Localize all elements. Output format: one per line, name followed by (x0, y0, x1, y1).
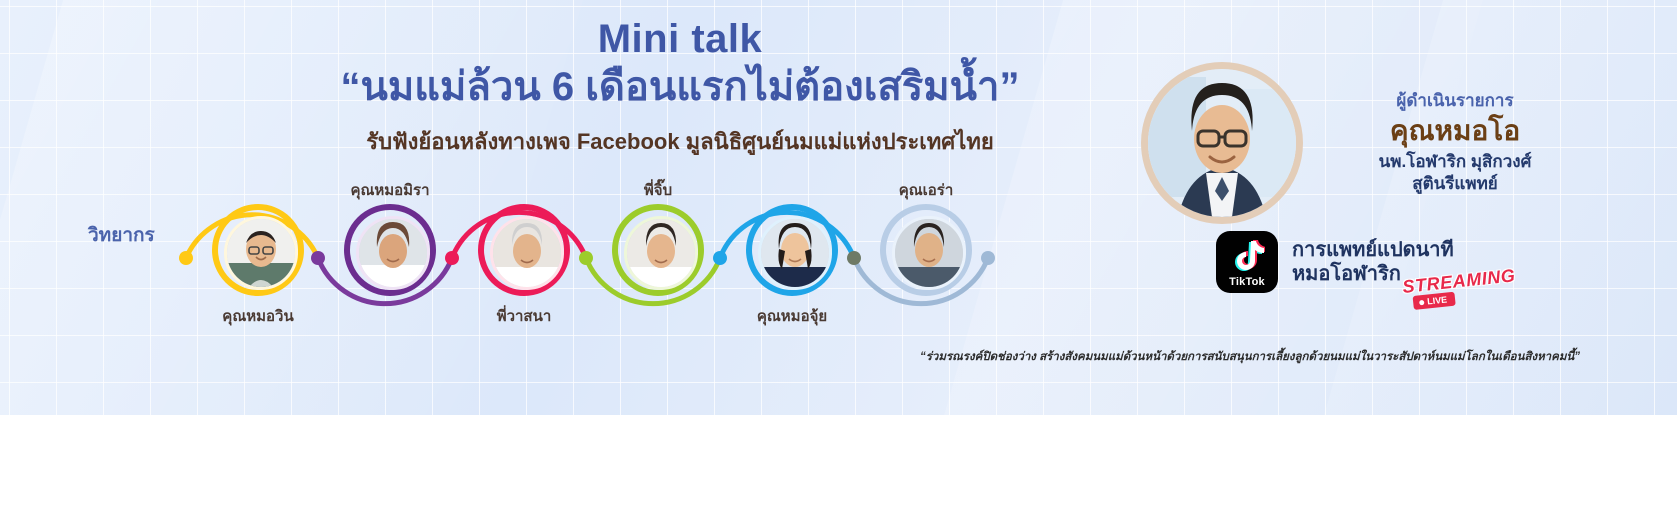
avatar-illustration (493, 219, 561, 287)
avatar-illustration (761, 219, 829, 287)
speaker-avatar (624, 216, 698, 290)
live-badge: LIVE (1413, 292, 1456, 310)
subtitle-replay-info: รับฟังย้อนหลังทางเพจ Facebook มูลนิธิศูน… (180, 124, 1180, 159)
live-label: LIVE (1427, 294, 1448, 306)
tiktok-note-glyph (1231, 240, 1265, 272)
tiktok-wordmark: TikTok (1216, 276, 1278, 288)
avatar-illustration (895, 219, 963, 287)
host-specialty: สูตินรีแพทย์ (1290, 173, 1620, 195)
avatar-illustration (627, 219, 695, 287)
speaker-name: พี่จิ๊บ (582, 178, 734, 202)
channel-line-1: การแพทย์แปดนาที (1292, 238, 1454, 262)
host-portrait-illustration (1148, 69, 1296, 217)
title-english: Mini talk (180, 18, 1180, 60)
speaker-name: คุณหมอวิน (182, 304, 334, 328)
speaker-name: คุณเอร่า (850, 178, 1002, 202)
speaker-avatar (224, 216, 298, 290)
host-nickname: คุณหมอโอ (1290, 113, 1620, 148)
speaker-name: พี่วาสนา (448, 304, 600, 328)
host-role-label: ผู้ดำเนินรายการ (1290, 92, 1620, 111)
speaker-rail: วิทยากร (0, 175, 1060, 350)
headline-block: Mini talk “นมแม่ล้วน 6 เดือนแรกไม่ต้องเส… (180, 18, 1180, 159)
speaker-avatar (892, 216, 966, 290)
avatar-illustration (227, 219, 295, 287)
speaker-avatar (356, 216, 430, 290)
avatar-illustration (359, 219, 427, 287)
host-avatar (1141, 62, 1303, 224)
title-thai: “นมแม่ล้วน 6 เดือนแรกไม่ต้องเสริมน้ำ” (180, 62, 1180, 112)
live-dot-icon (1419, 299, 1424, 304)
speaker-avatar (758, 216, 832, 290)
tiktok-icon[interactable]: TikTok (1216, 231, 1278, 293)
speaker-name: คุณหมอจุ้ย (716, 304, 868, 328)
host-info-block: ผู้ดำเนินรายการ คุณหมอโอ นพ.โอฬาริก มุสิ… (1290, 92, 1620, 195)
host-full-name: นพ.โอฬาริก มุสิกวงศ์ (1290, 151, 1620, 173)
webinar-promo-banner: Mini talk “นมแม่ล้วน 6 เดือนแรกไม่ต้องเส… (0, 0, 1677, 415)
speaker-name: คุณหมอมิรา (314, 178, 466, 202)
campaign-footnote: “ร่วมรณรงค์ปิดช่องว่าง สร้างสังคมนมแม่ด้… (840, 348, 1660, 366)
speaker-avatar (490, 216, 564, 290)
